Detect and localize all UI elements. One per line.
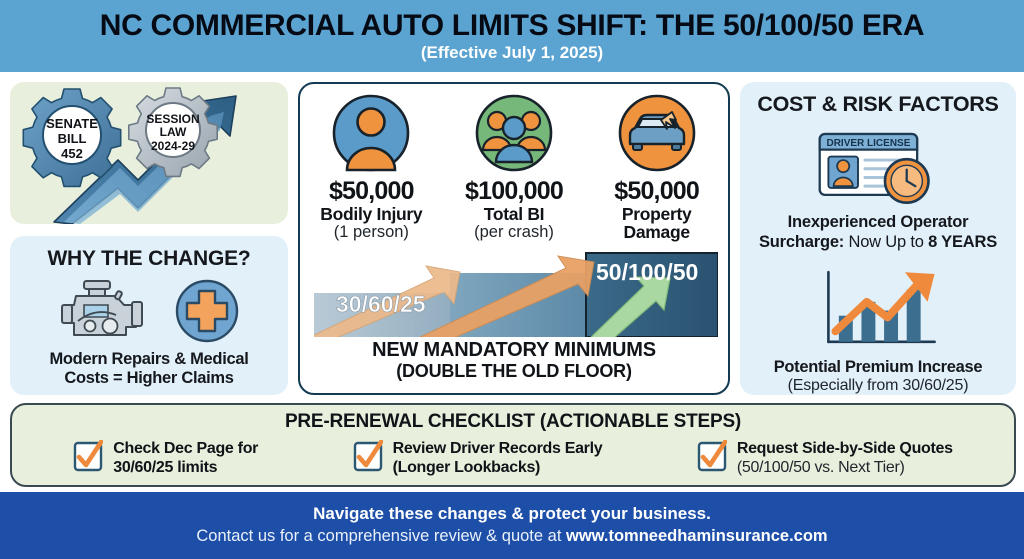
premium-caption-line2: (Especially from 30/60/25)	[788, 377, 969, 395]
checklist-item-line1: Request Side-by-Side Quotes	[737, 440, 953, 459]
checkbox-checked-icon[interactable]	[73, 440, 103, 472]
checklist-item-text: Request Side-by-Side Quotes (50/100/50 v…	[737, 440, 953, 477]
minimums-caption-line1: NEW MANDATORY MINIMUMS	[300, 339, 728, 361]
senate-bill-line2: BILL	[58, 131, 87, 146]
senate-bill-line1: SENATE	[46, 116, 98, 131]
footer-line2: Contact us for a comprehensive review & …	[196, 526, 827, 547]
cost-surcharge-label: Surcharge:	[759, 233, 844, 251]
minimums-bar-chart-svg: 30/60/25 50/100/50	[314, 252, 718, 337]
checklist-item-3[interactable]: Request Side-by-Side Quotes (50/100/50 v…	[697, 440, 953, 477]
footer-contact-text: Contact us for a comprehensive review & …	[196, 527, 566, 545]
single-person-icon	[330, 92, 412, 174]
legislation-panel: SENATE BILL 452 SESSION LAW 2024-29	[10, 82, 288, 224]
limit-label: Total BI	[484, 205, 544, 224]
header-banner: NC COMMERCIAL AUTO LIMITS SHIFT: THE 50/…	[0, 0, 1024, 72]
minimums-caption: NEW MANDATORY MINIMUMS (DOUBLE THE OLD F…	[300, 339, 728, 382]
checklist-item-text: Check Dec Page for 30/60/25 limits	[113, 440, 258, 477]
limit-card-bodily-injury: $50,000 Bodily Injury (1 person)	[301, 92, 441, 242]
limit-label: Property	[622, 205, 692, 224]
limit-note: (1 person)	[334, 223, 409, 241]
why-the-change-title: WHY THE CHANGE?	[47, 247, 250, 271]
cost-risk-title: COST & RISK FACTORS	[757, 92, 998, 117]
session-law-line2: LAW	[160, 125, 187, 139]
why-caption-line1: Modern Repairs & Medical	[49, 350, 248, 369]
cost-caption-line2: Surcharge: Now Up to 8 YEARS	[759, 233, 997, 253]
minimums-caption-line2: (DOUBLE THE OLD FLOOR)	[300, 361, 728, 382]
limit-note: (per crash)	[474, 223, 554, 241]
checklist-item-line1: Check Dec Page for	[113, 440, 258, 459]
checklist-item-line1: Review Driver Records Early	[393, 440, 603, 459]
cost-surcharge-years: 8 YEARS	[928, 233, 997, 251]
engine-icon	[58, 277, 152, 345]
footer-banner: Navigate these changes & protect your bu…	[0, 492, 1024, 559]
cost-risk-caption: Inexperienced Operator Surcharge: Now Up…	[753, 213, 1003, 253]
checklist-items: Check Dec Page for 30/60/25 limits Revie…	[12, 440, 1014, 477]
limit-card-total-bi: $100,000 Total BI (per crash)	[444, 92, 584, 242]
legislation-graphic: SENATE BILL 452 SESSION LAW 2024-29	[10, 82, 288, 224]
damaged-car-icon	[616, 92, 698, 174]
checklist-item-line2: (Longer Lookbacks)	[393, 459, 603, 478]
limit-label-2: Damage	[623, 223, 689, 242]
cost-caption-line1: Inexperienced Operator	[759, 213, 997, 233]
premium-increase-chart-icon	[803, 267, 953, 354]
checkbox-checked-icon[interactable]	[353, 440, 383, 472]
mandatory-minimums-panel: $50,000 Bodily Injury (1 person) $100,00…	[298, 82, 730, 395]
limit-label: Bodily Injury	[320, 205, 422, 224]
page-title: NC COMMERCIAL AUTO LIMITS SHIFT: THE 50/…	[100, 10, 925, 42]
medical-cross-icon	[174, 278, 240, 344]
page-subtitle: (Effective July 1, 2025)	[421, 44, 603, 62]
why-the-change-caption: Modern Repairs & Medical Costs = Higher …	[49, 350, 248, 389]
why-icon-row	[58, 277, 240, 345]
driver-license-text: DRIVER LICENSE	[826, 138, 910, 149]
pre-renewal-checklist-panel: PRE-RENEWAL CHECKLIST (ACTIONABLE STEPS)…	[10, 403, 1016, 487]
group-people-icon	[473, 92, 555, 174]
premium-caption-line1: Potential Premium Increase	[774, 358, 983, 377]
checklist-item-1[interactable]: Check Dec Page for 30/60/25 limits	[73, 440, 258, 477]
limit-card-property-damage: $50,000 Property Damage	[587, 92, 727, 242]
cost-surcharge-mid: Now Up to	[844, 233, 928, 251]
session-law-line3: 2024-29	[151, 139, 195, 153]
checklist-item-line2: (50/100/50 vs. Next Tier)	[737, 459, 953, 478]
why-caption-line2: Costs = Higher Claims	[49, 369, 248, 388]
senate-bill-line3: 452	[61, 146, 83, 161]
session-law-line1: SESSION	[146, 112, 199, 126]
session-law-gear-icon: SESSION LAW 2024-29	[129, 88, 217, 176]
minimums-bar-chart: 30/60/25 50/100/50	[314, 252, 718, 337]
limit-amount: $50,000	[329, 179, 414, 205]
limit-amount: $100,000	[465, 179, 563, 205]
senate-bill-gear-icon: SENATE BILL 452	[23, 89, 120, 186]
bar-label-old: 30/60/25	[336, 291, 426, 317]
cost-risk-factors-panel: COST & RISK FACTORS DRIVER LICENSE Inexp…	[740, 82, 1016, 395]
checklist-item-line2: 30/60/25 limits	[113, 459, 258, 478]
checkbox-checked-icon[interactable]	[697, 440, 727, 472]
coverage-limits-row: $50,000 Bodily Injury (1 person) $100,00…	[300, 92, 728, 242]
footer-line1: Navigate these changes & protect your bu…	[313, 504, 711, 524]
checklist-item-2[interactable]: Review Driver Records Early (Longer Look…	[353, 440, 603, 477]
bar-label-new: 50/100/50	[596, 259, 698, 285]
limit-amount: $50,000	[614, 179, 699, 205]
checklist-title: PRE-RENEWAL CHECKLIST (ACTIONABLE STEPS)	[12, 411, 1014, 433]
why-the-change-panel: WHY THE CHANGE? Modern Repairs & Medical…	[10, 236, 288, 395]
checklist-item-text: Review Driver Records Early (Longer Look…	[393, 440, 603, 477]
footer-website-link[interactable]: www.tomneedhaminsurance.com	[566, 527, 828, 545]
driver-license-clock-icon: DRIVER LICENSE	[807, 127, 949, 207]
